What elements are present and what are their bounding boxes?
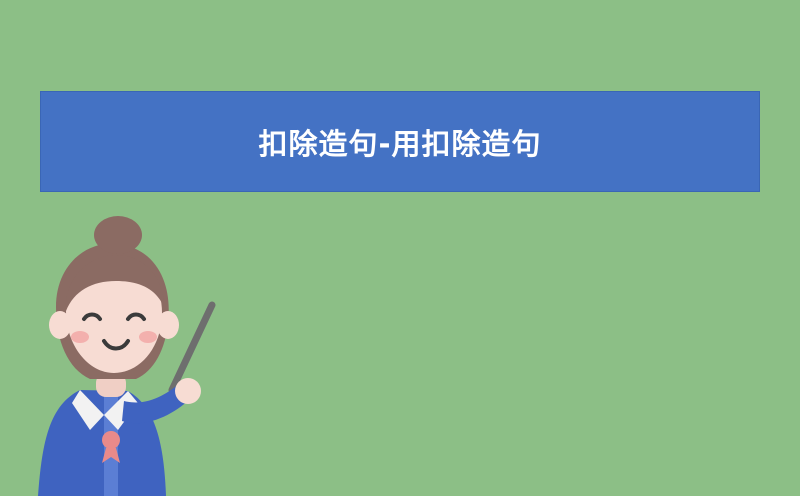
title-bar: 扣除造句-用扣除造句 [40, 91, 760, 192]
page-banner: 扣除造句-用扣除造句 [0, 0, 800, 496]
page-title: 扣除造句-用扣除造句 [258, 121, 541, 163]
teacher-with-pointer-illustration [20, 215, 250, 496]
pointer-stick [172, 305, 212, 390]
